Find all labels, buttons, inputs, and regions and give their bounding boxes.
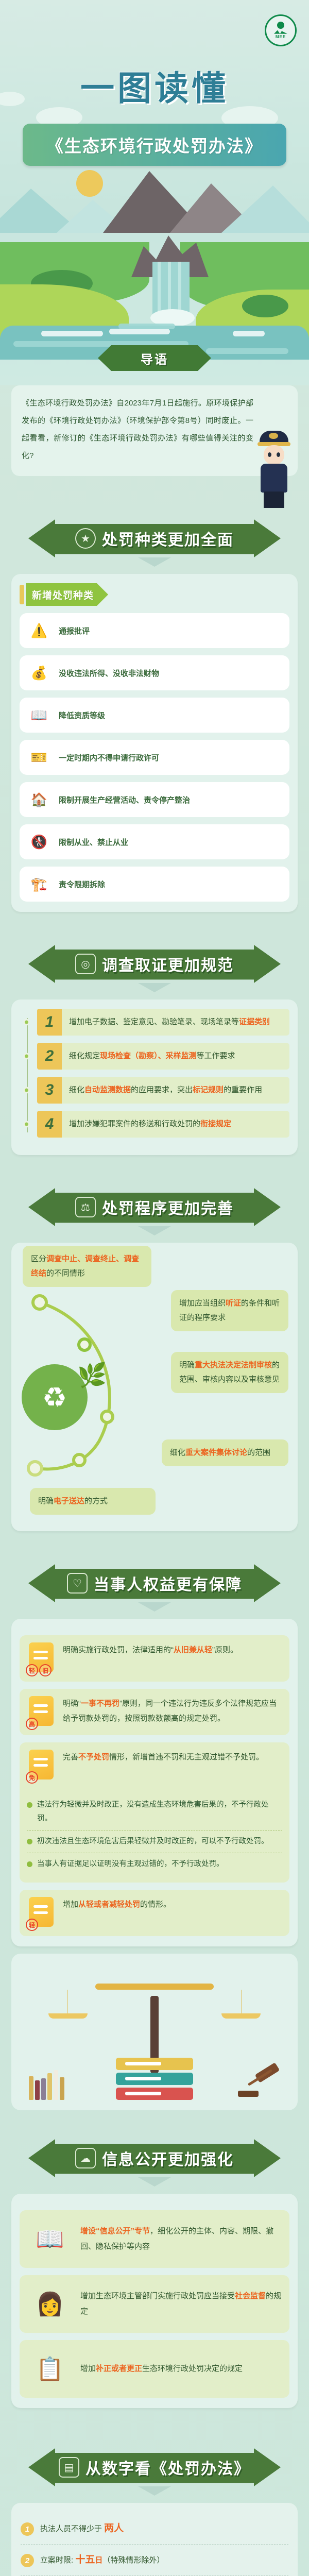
disclosure-text: 增加补正或者更正生态环境行政处罚决定的规定	[80, 2361, 282, 2377]
penalty-item[interactable]: 🎫 一定时期内不得申请行政许可	[20, 740, 289, 775]
list-item[interactable]: 2 细化规定现场检查（勘察）、采样监测等工作要求	[37, 1043, 289, 1070]
stamp-label: 高	[26, 1718, 38, 1730]
penalty-item[interactable]: 💰 没收违法所得、没收非法财物	[20, 655, 289, 690]
bullet-text: 初次违法且生态环境危害后果轻微并及时改正的，可以不予行政处罚。	[37, 1835, 269, 1849]
disclosure-item[interactable]: 📖 增设“信息公开”专节，细化公开的主体、内容、期限、撤回、隐私保护等内容	[20, 2210, 289, 2268]
no-worker-icon: 🚷	[28, 831, 50, 853]
number-item[interactable]: 2 立案时限: 十五日（特殊情形除外）	[21, 2544, 288, 2575]
justice-scale-illustration	[11, 1954, 298, 2110]
list-item[interactable]: 3 细化自动监测数据的应用要求，突出标记规则的重要作用	[37, 1077, 289, 1104]
tag-label: 新增处罚种类	[26, 583, 108, 606]
item-number: 1	[21, 2522, 34, 2536]
item-number: 3	[37, 1077, 62, 1104]
page-subtitle-bar: 《生态环境行政处罚办法》	[23, 124, 286, 166]
gavel-icon: ⚖	[75, 1197, 96, 1217]
rights-text: 完善不予处罚情形，新增首违不罚和无主观过错不予处罚。	[63, 1750, 282, 1782]
leaf-icon: 🌿	[77, 1361, 107, 1389]
emblem-label: MEE	[276, 35, 286, 40]
penalty-item-label: 限制从业、禁止从业	[59, 837, 128, 848]
penalty-item-label: 降低资质等级	[59, 710, 105, 721]
rights-item[interactable]: 高 明确“一事不再罚”原则，同一个违法行为违反多个法律规范应当给予罚款处罚的，按…	[20, 1689, 289, 1735]
no-factory-icon: 🏠	[28, 788, 50, 811]
section-title: 处罚种类更加全面	[102, 527, 234, 550]
number-text: 执法人员不得少于 两人	[40, 2520, 288, 2537]
stamp-label: 免	[26, 1771, 38, 1784]
infographic-page: MEE 一图读懂 《生态环境行政处罚办法》	[0, 0, 309, 2576]
list-item[interactable]: 1 增加电子数据、鉴定意见、勘验笔录、现场笔录等证据类别	[37, 1009, 289, 1036]
document-stamp-icon: 轻	[27, 1897, 56, 1929]
section-title: 信息公开更加强化	[102, 2147, 234, 2170]
section-title: 调查取证更加规范	[102, 953, 234, 975]
stamp-label: 轻	[26, 1919, 38, 1931]
scenery-band: 导语	[0, 233, 309, 385]
disclosure-item[interactable]: 📋 增加补正或者更正生态环境行政处罚决定的规定	[20, 2340, 289, 2398]
section-banner-procedure: ⚖ 处罚程序更加完善	[28, 1188, 281, 1226]
list-item[interactable]: 4 增加涉嫌犯罪案件的移送和行政处罚的衔接规定	[37, 1111, 289, 1138]
section-banner-numbers: ▤ 从数字看《处罚办法》	[28, 2448, 281, 2486]
disclosure-item[interactable]: 👩 增加生态环境主管部门实施行政处罚应当接受社会监督的规定	[20, 2275, 289, 2333]
open-book-icon: 📖	[27, 2218, 73, 2260]
penalty-item-label: 责令限期拆除	[59, 879, 105, 890]
file-stack-icon	[116, 2055, 193, 2100]
section-banner-rights: ♡ 当事人权益更有保障	[28, 1564, 281, 1602]
number-item[interactable]: 1 执法人员不得少于 两人	[21, 2513, 288, 2544]
section-title: 从数字看《处罚办法》	[85, 2456, 250, 2479]
star-badge-icon: ★	[75, 528, 96, 549]
item-number: 4	[37, 1111, 62, 1138]
penalty-types-card: 新增处罚种类 ⚠️ 通报批评 💰 没收违法所得、没收非法财物 📖 降低资质等级 …	[11, 574, 298, 912]
rights-item[interactable]: 轻 增加从轻或者减轻处罚的情形。	[20, 1890, 289, 1936]
item-number: 1	[37, 1009, 62, 1036]
woman-pointing-icon: 👩	[27, 2283, 73, 2325]
hands-heart-icon: ♡	[67, 1573, 88, 1594]
penalty-item-label: 没收违法所得、没收非法财物	[59, 668, 159, 679]
item-number: 2	[37, 1043, 62, 1070]
document-stamp-icon: 轻 旧	[27, 1642, 56, 1674]
section-banner-penalty-types: ★ 处罚种类更加全面	[28, 519, 281, 557]
disclosure-text: 增设“信息公开”专节，细化公开的主体、内容、期限、撤回、隐私保护等内容	[80, 2224, 282, 2255]
penalty-item[interactable]: 🚷 限制从业、禁止从业	[20, 824, 289, 859]
open-book-icon: 📖	[28, 704, 50, 726]
investigation-card: 1 增加电子数据、鉴定意见、勘验笔录、现场笔录等证据类别 2 细化规定现场检查（…	[11, 999, 298, 1155]
item-text: 增加电子数据、鉴定意见、勘验笔录、现场笔录等证据类别	[62, 1009, 289, 1036]
rights-text: 增加从轻或者减轻处罚的情形。	[63, 1897, 282, 1929]
books-icon	[29, 2070, 64, 2100]
rights-text: 明确实施行政处罚，法律适用的“从旧兼从轻”原则。	[63, 1642, 282, 1674]
investigation-list: 1 增加电子数据、鉴定意见、勘验笔录、现场笔录等证据类别 2 细化规定现场检查（…	[20, 1009, 289, 1138]
rights-text: 明确“一事不再罚”原则，同一个违法行为违反多个法律规范应当给予罚款处罚的，按照罚…	[63, 1696, 282, 1728]
disclosure-text: 增加生态环境主管部门实施行政处罚应当接受社会监督的规定	[80, 2289, 282, 2319]
procedure-bubble[interactable]: 细化重大案件集体讨论的范围	[162, 1439, 288, 1466]
document-stamp-icon: 免	[27, 1750, 56, 1782]
procedure-bubble[interactable]: 明确重大执法决定法制审核的范围、审核内容以及审核意见	[171, 1352, 288, 1393]
rights-item[interactable]: 免 完善不予处罚情形，新增首违不罚和无主观过错不予处罚。 违法行为轻微并及时改正…	[20, 1742, 289, 1883]
procedure-bubble[interactable]: 明确电子送达的方式	[30, 1488, 156, 1515]
section-title: 当事人权益更有保障	[94, 1572, 242, 1595]
item-number: 2	[21, 2554, 34, 2567]
list-item: 初次违法且生态环境危害后果轻微并及时改正的，可以不予行政处罚。	[27, 1830, 282, 1853]
stamp-label: 旧	[39, 1664, 51, 1676]
gavel-icon	[238, 2068, 279, 2097]
penalty-item[interactable]: 🏗️ 责令限期拆除	[20, 867, 289, 902]
procedure-bubble[interactable]: 增加应当组织听证的条件和听证的程序要求	[171, 1290, 288, 1331]
rights-card: 轻 旧 明确实施行政处罚，法律适用的“从旧兼从轻”原则。 高 明确“一事不再罚”…	[11, 1619, 298, 1946]
intro-ribbon: 导语	[98, 345, 211, 371]
target-scope-icon: ◎	[75, 954, 96, 974]
penalty-item-label: 限制开展生产经营活动、责令停产整治	[59, 794, 190, 805]
penalty-item[interactable]: ⚠️ 通报批评	[20, 613, 289, 648]
procedure-bubble[interactable]: 区分调查中止、调查终止、调查终结的不同情形	[23, 1246, 151, 1287]
penalty-item-label: 通报批评	[59, 625, 90, 636]
intro-card: 《生态环境行政处罚办法》自2023年7月1日起施行。原环境保护部发布的《环境行政…	[11, 385, 298, 476]
bullet-text: 违法行为轻微并及时改正，没有造成生态环境危害后果的，不予行政处罚。	[37, 1798, 282, 1826]
item-text: 增加涉嫌犯罪案件的移送和行政处罚的衔接规定	[62, 1111, 289, 1138]
penalty-item[interactable]: 📖 降低资质等级	[20, 698, 289, 733]
page-subtitle: 《生态环境行政处罚办法》	[46, 132, 263, 157]
new-penalty-types-tag: 新增处罚种类	[20, 583, 289, 606]
clipboard-checklist-icon: 📋	[27, 2348, 73, 2389]
intro-paragraph: 《生态环境行政处罚办法》自2023年7月1日起施行。原环境保护部发布的《环境行政…	[22, 395, 287, 465]
list-item: 违法行为轻微并及时改正，没有造成生态环境危害后果的，不予行政处罚。	[27, 1794, 282, 1830]
crane-demolition-icon: 🏗️	[28, 873, 50, 895]
bullet-text: 当事人有证据足以证明没有主观过错的，不予行政处罚。	[37, 1857, 224, 1871]
mountain-decoration	[221, 185, 309, 233]
number-text: 立案时限: 十五日（特殊情形除外）	[40, 2552, 288, 2568]
page-title: 一图读懂	[0, 61, 309, 110]
stamp-label: 轻	[26, 1664, 38, 1676]
warning-triangle-icon: ⚠️	[28, 619, 50, 642]
cloud-network-icon: ☁	[75, 2148, 96, 2168]
document-stamp-icon: 高	[27, 1696, 56, 1728]
disclosure-card: 📖 增设“信息公开”专节，细化公开的主体、内容、期限、撤回、隐私保护等内容 👩 …	[11, 2194, 298, 2408]
item-text: 细化自动监测数据的应用要求，突出标记规则的重要作用	[62, 1077, 289, 1104]
procedure-card: ♻ 🌿 区分调查中止、调查终止、调查终结的不同情形 增加应当组织听证的条件和听证…	[11, 1243, 298, 1531]
rights-subbullets: 违法行为轻微并及时改正，没有造成生态环境危害后果的，不予行政处罚。 初次违法且生…	[27, 1794, 282, 1875]
hero-section: MEE 一图读懂 《生态环境行政处罚办法》	[0, 0, 309, 233]
section-banner-investigation: ◎ 调查取证更加规范	[28, 945, 281, 983]
mee-emblem-icon: MEE	[265, 14, 297, 46]
item-text: 细化规定现场检查（勘察）、采样监测等工作要求	[62, 1043, 289, 1070]
bush-decoration	[242, 295, 288, 317]
penalty-item-label: 一定时期内不得申请行政许可	[59, 752, 159, 763]
rights-item[interactable]: 轻 旧 明确实施行政处罚，法律适用的“从旧兼从轻”原则。	[20, 1635, 289, 1682]
section-title: 处罚程序更加完善	[102, 1196, 234, 1218]
license-card-icon: 🎫	[28, 746, 50, 769]
book-ledger-icon: ▤	[59, 2457, 79, 2478]
police-officer-illustration	[255, 431, 293, 508]
numbers-card: 1 执法人员不得少于 两人 2 立案时限: 十五日（特殊情形除外） 3 作出处罚…	[11, 2503, 298, 2576]
no-money-icon: 💰	[28, 662, 50, 684]
list-item: 当事人有证据足以证明没有主观过错的，不予行政处罚。	[27, 1853, 282, 1875]
penalty-item[interactable]: 🏠 限制开展生产经营活动、责令停产整治	[20, 782, 289, 817]
section-banner-disclosure: ☁ 信息公开更加强化	[28, 2139, 281, 2177]
